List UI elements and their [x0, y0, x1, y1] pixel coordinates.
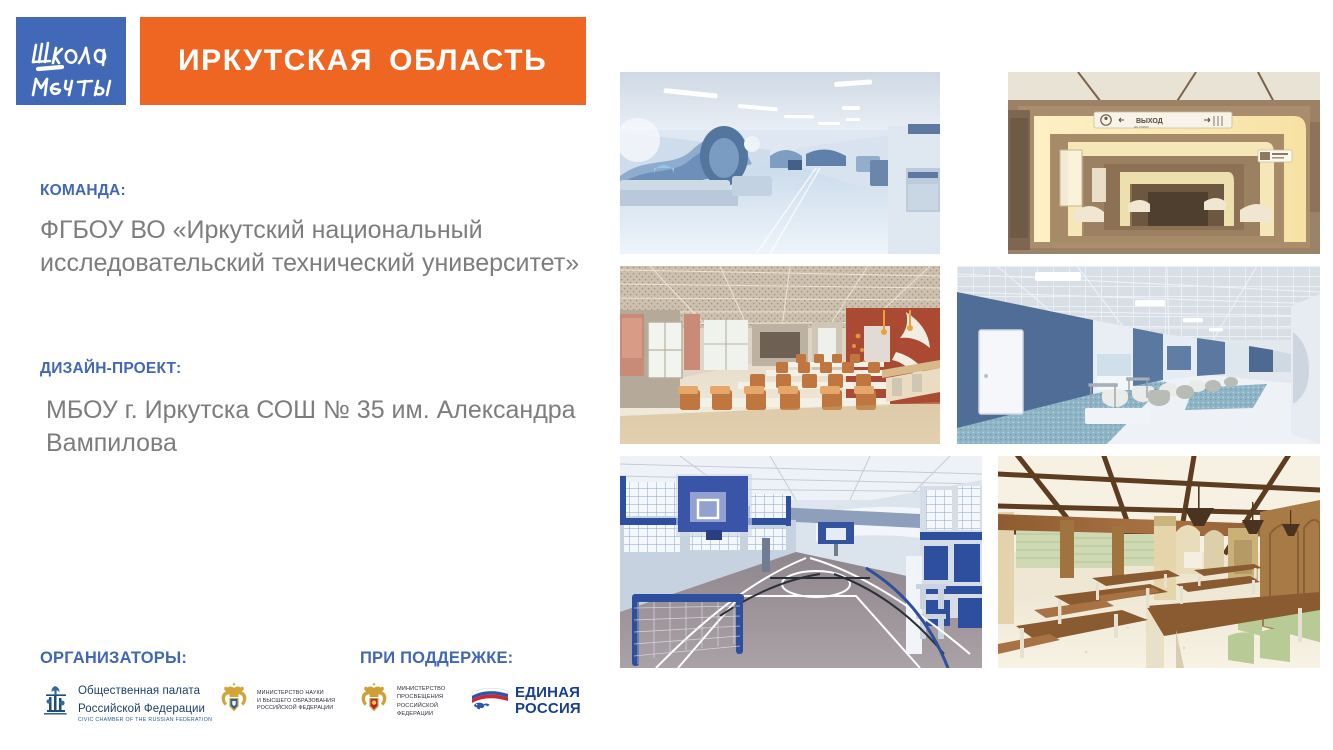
project-render-gallery: ВЫХОД НА УЛИЦУ	[620, 72, 1320, 668]
render-photo-wooden-dining-hall	[998, 456, 1320, 668]
design-project-label: ДИЗАЙН-ПРОЕКТ:	[40, 360, 580, 378]
ministry-of-science-wordmark: МИНИСТЕРСТВО НАУКИ И ВЫСШЕГО ОБРАЗОВАНИЯ…	[257, 690, 335, 713]
logo-united-russia: ЕДИНАЯ РОССИЯ	[470, 683, 581, 718]
region-title-banner: ИРКУТСКАЯ ОБЛАСТЬ	[140, 17, 586, 105]
render-photo-cafeteria	[620, 266, 940, 444]
design-project-block: ДИЗАЙН-ПРОЕКТ: МБОУ г. Иркутска СОШ № 35…	[40, 360, 580, 459]
render-photo-warm-arch-corridor: ВЫХОД НА УЛИЦУ	[1008, 72, 1320, 254]
civic-chamber-line1: Общественная палата	[78, 685, 200, 697]
svg-text:ВЫХОД: ВЫХОД	[1136, 118, 1163, 125]
render-photo-blue-corridor	[620, 72, 940, 254]
ministry-of-science-line-3: РОССИЙСКОЙ ФЕДЕРАЦИИ	[257, 705, 333, 711]
united-russia-line2: РОССИЯ	[515, 700, 581, 717]
ministry-of-science-line-1: МИНИСТЕРСТВО НАУКИ	[257, 690, 324, 696]
logo-ministry-of-education: МИНИСТЕРСТВО ПРОСВЕЩЕНИЯ РОССИЙСКОЙ ФЕДЕ…	[356, 681, 445, 722]
civic-chamber-subtitle: CIVIC CHAMBER OF THE RUSSIAN FEDERATION	[78, 718, 212, 724]
ministry-of-education-wordmark: МИНИСТЕРСТВО ПРОСВЕЩЕНИЯ РОССИЙСКОЙ ФЕДЕ…	[397, 685, 445, 717]
civic-chamber-wordmark: Общественная палата Российской Федерации…	[78, 681, 212, 724]
united-russia-wordmark: ЕДИНАЯ РОССИЯ	[515, 685, 581, 716]
svg-text:НА УЛИЦУ: НА УЛИЦУ	[1134, 125, 1149, 129]
render-photo-blue-lounge-corridor	[957, 266, 1320, 444]
double-headed-eagle-icon	[216, 681, 252, 722]
ministry-of-education-line-4: ФЕДЕРАЦИИ	[397, 711, 433, 717]
team-label: КОМАНДА:	[40, 182, 580, 200]
team-block: КОМАНДА: ФГБОУ ВО «Иркутский национальны…	[40, 182, 580, 279]
double-headed-eagle-icon	[356, 681, 392, 722]
ministry-of-science-line-2: И ВЫСШЕГО ОБРАЗОВАНИЯ	[257, 698, 335, 704]
logo-ministry-of-science: МИНИСТЕРСТВО НАУКИ И ВЫСШЕГО ОБРАЗОВАНИЯ…	[216, 681, 335, 722]
page-footer: ОРГАНИЗАТОРЫ: ПРИ ПОДДЕРЖКЕ:	[0, 635, 600, 750]
ministry-of-education-line-1: МИНИСТЕРСТВО	[397, 686, 445, 692]
logo-civic-chamber: Общественная палата Российской Федерации…	[38, 681, 212, 724]
organizers-label: ОРГАНИЗАТОРЫ:	[40, 649, 187, 668]
ministry-of-education-line-3: РОССИЙСКОЙ	[397, 703, 438, 709]
support-label: ПРИ ПОДДЕРЖКЕ:	[360, 649, 513, 668]
page-title: ИРКУТСКАЯ ОБЛАСТЬ	[140, 44, 547, 78]
design-project-value: МБОУ г. Иркутска СОШ № 35 им. Александра…	[40, 394, 580, 459]
render-photo-gymnasium	[620, 456, 982, 668]
brand-logo-shkola-mechty	[16, 17, 126, 105]
ministry-of-education-line-2: ПРОСВЕЩЕНИЯ	[397, 694, 443, 700]
team-value: ФГБОУ ВО «Иркутский национальный исследо…	[40, 214, 580, 279]
civic-chamber-emblem-icon	[38, 683, 72, 722]
united-russia-bear-flag-icon	[470, 683, 510, 718]
civic-chamber-line2: Российской Федерации	[78, 703, 205, 715]
